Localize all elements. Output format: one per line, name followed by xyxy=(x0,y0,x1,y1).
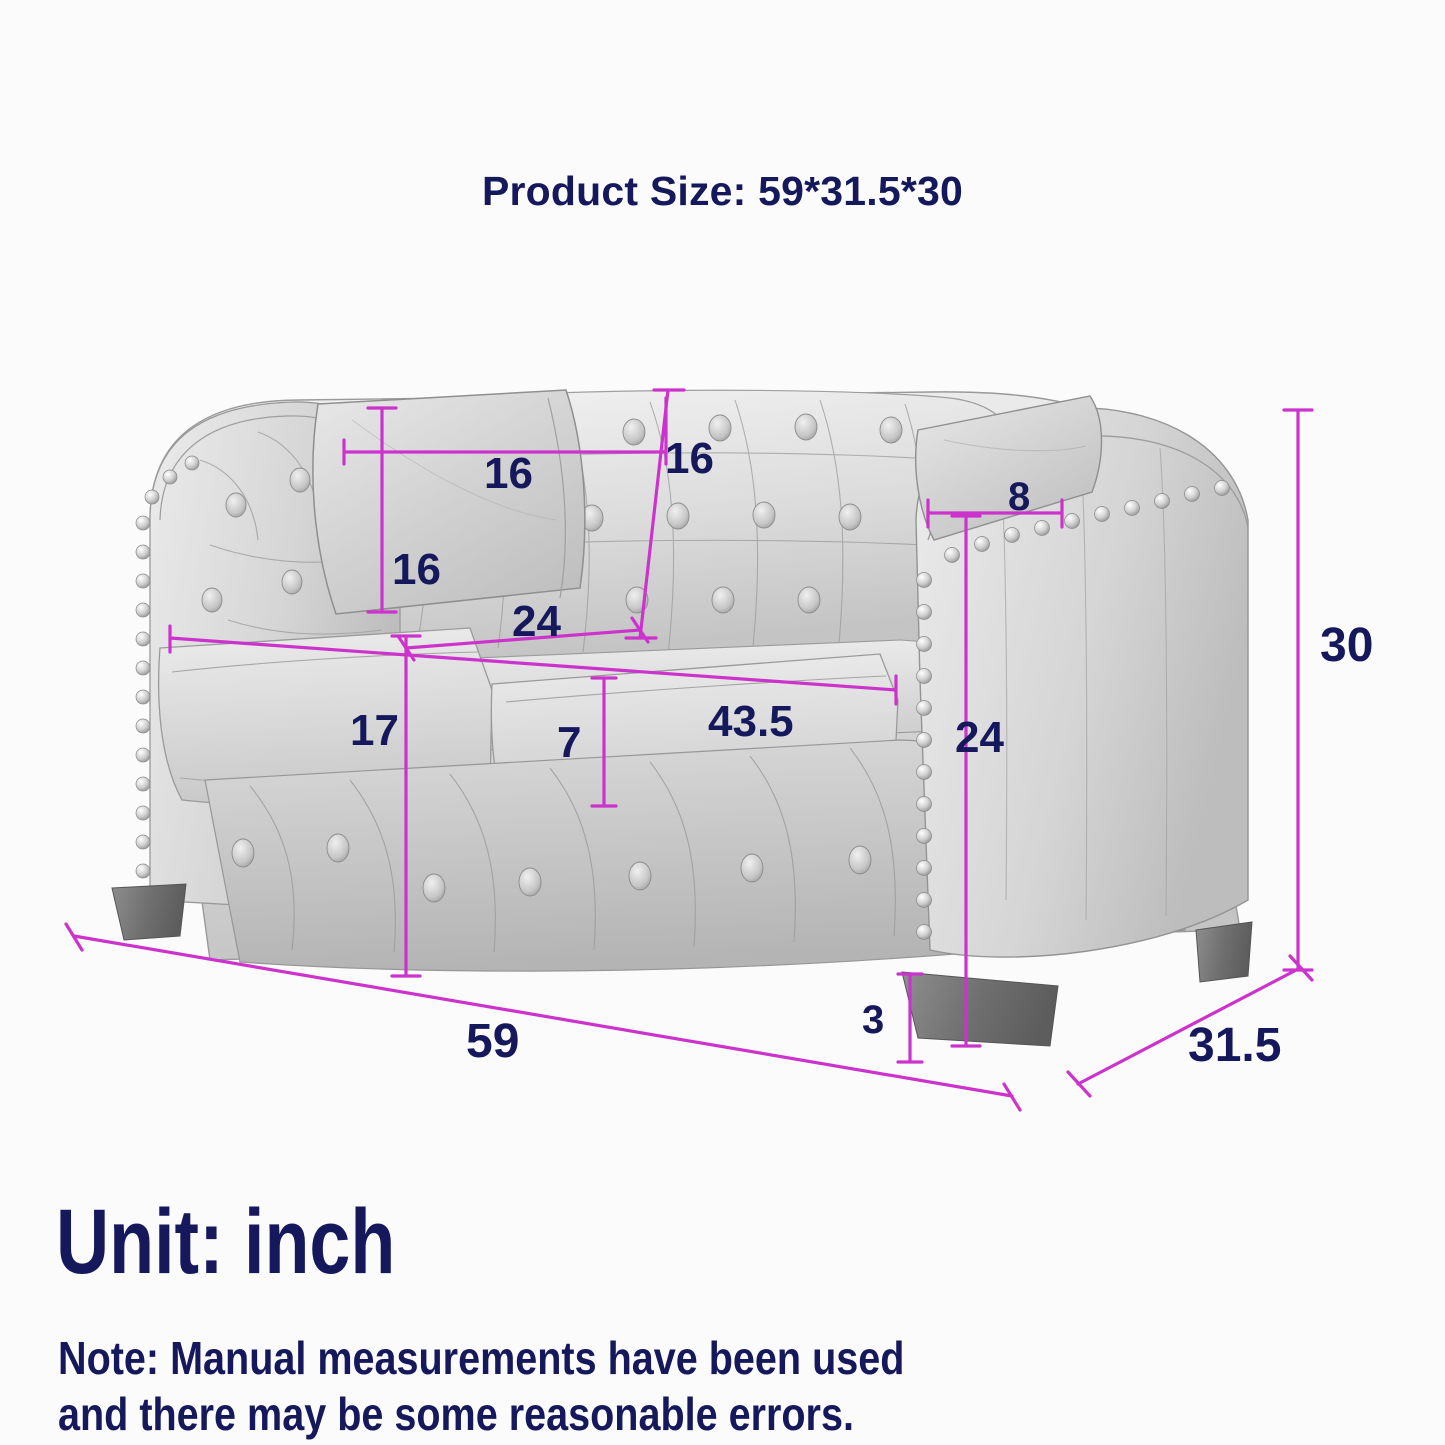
dim-label-seat-width: 43.5 xyxy=(708,700,794,744)
dim-label-overall-width: 59 xyxy=(466,1018,519,1066)
dim-label-seat-depth: 24 xyxy=(512,600,561,644)
sofa-illustration xyxy=(112,390,1252,1046)
dim-label-overall-height: 30 xyxy=(1320,622,1373,670)
left-front-leg xyxy=(112,884,186,940)
product-dimension-diagram: Product Size: 59*31.5*30 xyxy=(0,0,1445,1445)
dim-label-arm-height: 24 xyxy=(955,716,1004,760)
center-leg xyxy=(902,972,1058,1046)
note-line-1: Note: Manual measurements have been used xyxy=(58,1330,904,1386)
note-line-2: and there may be some reasonable errors. xyxy=(58,1386,904,1442)
dim-label-seat-height: 17 xyxy=(350,709,399,753)
dim-label-leg-height: 3 xyxy=(862,1000,884,1040)
dim-label-pillow-height: 16 xyxy=(392,548,441,592)
right-rear-leg xyxy=(1196,922,1252,982)
dim-overall-height xyxy=(1284,410,1312,970)
dim-label-overall-depth: 31.5 xyxy=(1188,1022,1281,1070)
unit-label: Unit: inch xyxy=(56,1196,395,1288)
dim-label-backrest-height: 16 xyxy=(665,437,714,481)
dim-label-arm-width: 8 xyxy=(1008,477,1030,517)
dim-label-pillow-width: 16 xyxy=(484,452,533,496)
measurement-note: Note: Manual measurements have been used… xyxy=(58,1330,904,1442)
left-throw-pillow xyxy=(313,390,585,614)
dim-label-cushion-thickness: 7 xyxy=(557,721,581,765)
